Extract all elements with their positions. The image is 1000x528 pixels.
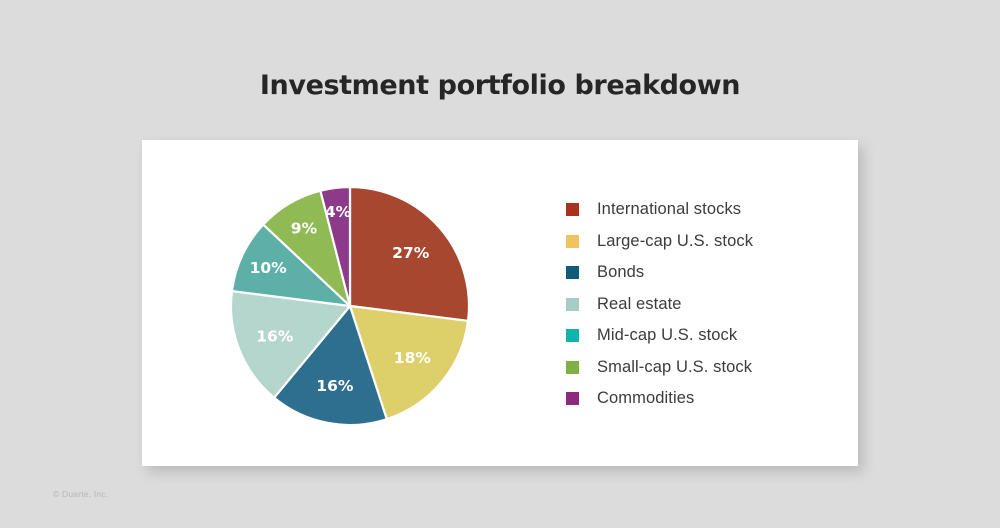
legend-swatch-icon xyxy=(566,392,579,405)
legend-item-label: Mid-cap U.S. stock xyxy=(597,326,737,345)
pie-slice-label: 4% xyxy=(325,203,352,221)
pie-slice-label: 10% xyxy=(250,259,288,277)
slide-canvas: Investment portfolio breakdown 27%18%16%… xyxy=(0,0,1000,528)
chart-legend: International stocksLarge-cap U.S. stock… xyxy=(566,194,836,415)
legend-swatch-icon xyxy=(566,361,579,374)
legend-item-label: Real estate xyxy=(597,295,682,314)
legend-item-small-cap-u-s-stock[interactable]: Small-cap U.S. stock xyxy=(566,352,836,384)
legend-swatch-icon xyxy=(566,235,579,248)
pie-chart-svg: 27%18%16%16%10%9%4% xyxy=(230,186,470,426)
legend-swatch-icon xyxy=(566,329,579,342)
pie-slice-label: 27% xyxy=(392,244,430,262)
legend-item-label: International stocks xyxy=(597,200,741,219)
legend-swatch-icon xyxy=(566,298,579,311)
legend-item-international-stocks[interactable]: International stocks xyxy=(566,194,836,226)
pie-slice-label: 16% xyxy=(316,377,354,395)
pie-chart: 27%18%16%16%10%9%4% xyxy=(230,186,470,426)
chart-card: 27%18%16%16%10%9%4% International stocks… xyxy=(142,140,858,466)
legend-item-mid-cap-u-s-stock[interactable]: Mid-cap U.S. stock xyxy=(566,320,836,352)
pie-slice-label: 9% xyxy=(291,220,318,238)
legend-item-commodities[interactable]: Commodities xyxy=(566,383,836,415)
legend-swatch-icon xyxy=(566,203,579,216)
legend-swatch-icon xyxy=(566,266,579,279)
legend-item-large-cap-u-s-stock[interactable]: Large-cap U.S. stock xyxy=(566,226,836,258)
legend-item-label: Bonds xyxy=(597,263,644,282)
legend-item-label: Commodities xyxy=(597,389,694,408)
pie-slice-label: 16% xyxy=(256,327,294,345)
footer-credit: © Duarte, Inc. xyxy=(53,489,108,499)
legend-item-bonds[interactable]: Bonds xyxy=(566,257,836,289)
legend-item-label: Large-cap U.S. stock xyxy=(597,232,753,251)
pie-slice-label: 18% xyxy=(394,349,432,367)
legend-item-real-estate[interactable]: Real estate xyxy=(566,289,836,321)
page-title: Investment portfolio breakdown xyxy=(0,70,1000,101)
legend-item-label: Small-cap U.S. stock xyxy=(597,358,752,377)
